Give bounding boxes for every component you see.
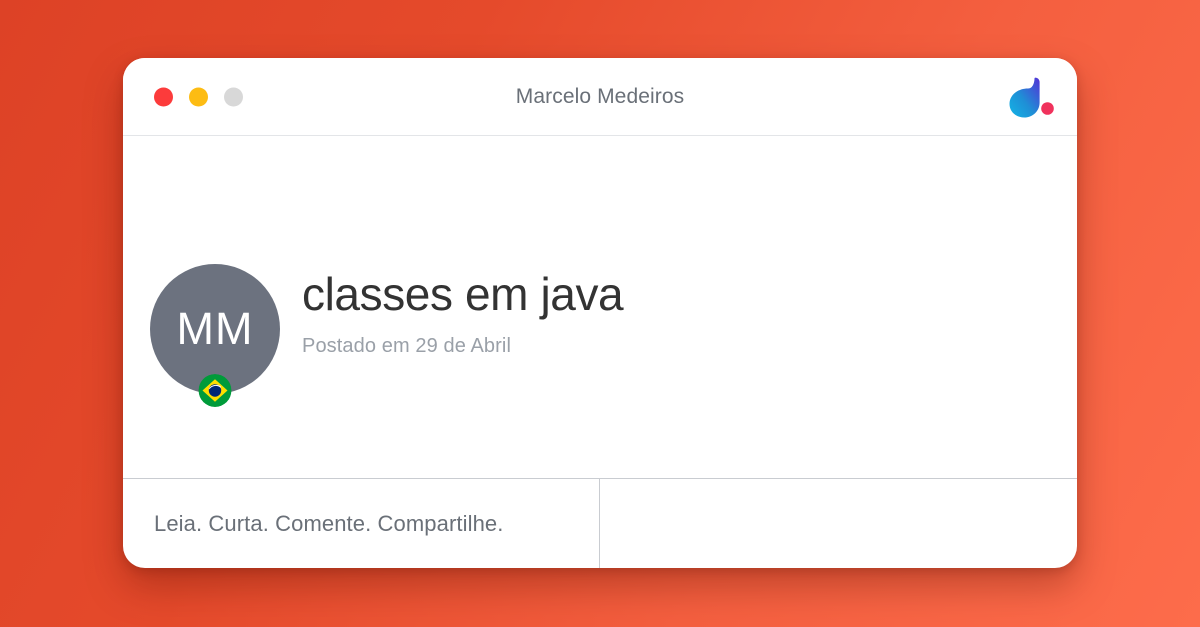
minimize-button[interactable]: [189, 87, 208, 106]
window-titlebar: Marcelo Medeiros: [123, 58, 1077, 136]
footer-tagline: Leia. Curta. Comente. Compartilhe.: [154, 511, 503, 537]
footer-right-cell: [600, 479, 1077, 568]
post-text-block: classes em java Postado em 29 de Abril: [302, 264, 623, 358]
brazil-flag-icon: [199, 374, 232, 407]
close-button[interactable]: [154, 87, 173, 106]
post-date: Postado em 29 de Abril: [302, 335, 623, 358]
window-card: Marcelo Medeiros: [123, 58, 1077, 568]
post-title: classes em java: [302, 270, 623, 318]
window-title: Marcelo Medeiros: [123, 85, 1077, 109]
screenshot-stage: Marcelo Medeiros: [0, 0, 1200, 627]
post-header: MM classes em java Postado em 29 de Abri…: [150, 264, 623, 394]
card-footer: Leia. Curta. Comente. Compartilhe.: [123, 478, 1077, 568]
droplet-logo-icon: [1001, 74, 1055, 120]
post-body: MM classes em java Postado em 29 de Abri…: [123, 136, 1077, 478]
footer-left-cell: Leia. Curta. Comente. Compartilhe.: [123, 479, 600, 568]
avatar[interactable]: MM: [150, 264, 280, 394]
zoom-button[interactable]: [224, 87, 243, 106]
window-controls: [154, 87, 243, 106]
